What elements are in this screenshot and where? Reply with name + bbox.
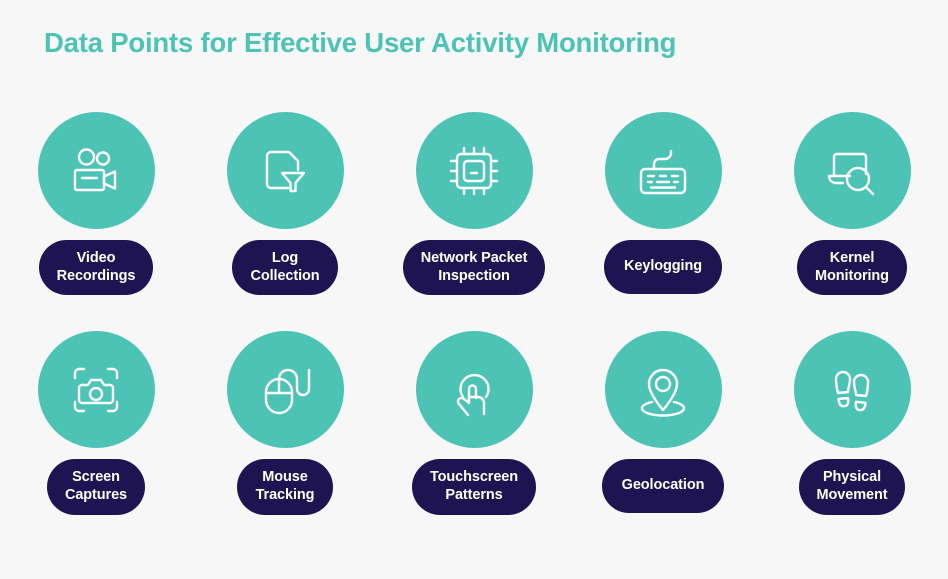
footprints-icon — [821, 359, 883, 421]
data-point-label: Log Collection — [232, 240, 337, 295]
icon-circle — [794, 112, 911, 229]
icon-circle — [227, 112, 344, 229]
grid-row-2: Screen Captures Mouse Tracking — [0, 331, 948, 514]
icon-circle — [605, 331, 722, 448]
icon-circle — [38, 112, 155, 229]
data-point-touchscreen-patterns[interactable]: Touchscreen Patterns — [380, 331, 569, 514]
data-point-label: Physical Movement — [799, 459, 906, 514]
data-point-log-collection[interactable]: Log Collection — [191, 112, 380, 295]
icon-circle — [227, 331, 344, 448]
data-point-network-packet-inspection[interactable]: Network Packet Inspection — [380, 112, 569, 295]
data-point-mouse-tracking[interactable]: Mouse Tracking — [191, 331, 380, 514]
icon-circle — [794, 331, 911, 448]
computer-mouse-icon — [254, 359, 316, 421]
data-point-label: Geolocation — [602, 459, 725, 513]
camera-frame-icon — [65, 359, 127, 421]
data-point-keylogging[interactable]: Keylogging — [569, 112, 758, 294]
data-points-grid: Video Recordings Log Collection — [0, 112, 948, 515]
data-point-screen-captures[interactable]: Screen Captures — [2, 331, 191, 514]
data-point-label: Mouse Tracking — [237, 459, 333, 514]
data-point-label: Touchscreen Patterns — [412, 459, 536, 514]
data-point-label: Video Recordings — [39, 240, 154, 295]
document-funnel-icon — [254, 140, 316, 202]
data-point-kernel-monitoring[interactable]: Kernel Monitoring — [758, 112, 947, 295]
data-point-label: Screen Captures — [47, 459, 145, 514]
tap-gesture-icon — [443, 359, 505, 421]
icon-circle — [416, 331, 533, 448]
data-point-label: Kernel Monitoring — [797, 240, 907, 295]
icon-circle — [605, 112, 722, 229]
infographic-page: Data Points for Effective User Activity … — [0, 0, 948, 579]
grid-row-1: Video Recordings Log Collection — [0, 112, 948, 295]
data-point-label: Keylogging — [604, 240, 722, 294]
data-point-label: Network Packet Inspection — [403, 240, 546, 295]
data-point-geolocation[interactable]: Geolocation — [569, 331, 758, 513]
video-camera-icon — [65, 140, 127, 202]
map-pin-icon — [632, 359, 694, 421]
data-point-physical-movement[interactable]: Physical Movement — [758, 331, 947, 514]
laptop-search-icon — [821, 140, 883, 202]
keyboard-icon — [632, 140, 694, 202]
icon-circle — [416, 112, 533, 229]
cpu-chip-icon — [443, 140, 505, 202]
icon-circle — [38, 331, 155, 448]
page-title: Data Points for Effective User Activity … — [44, 27, 676, 59]
data-point-video-recordings[interactable]: Video Recordings — [2, 112, 191, 295]
